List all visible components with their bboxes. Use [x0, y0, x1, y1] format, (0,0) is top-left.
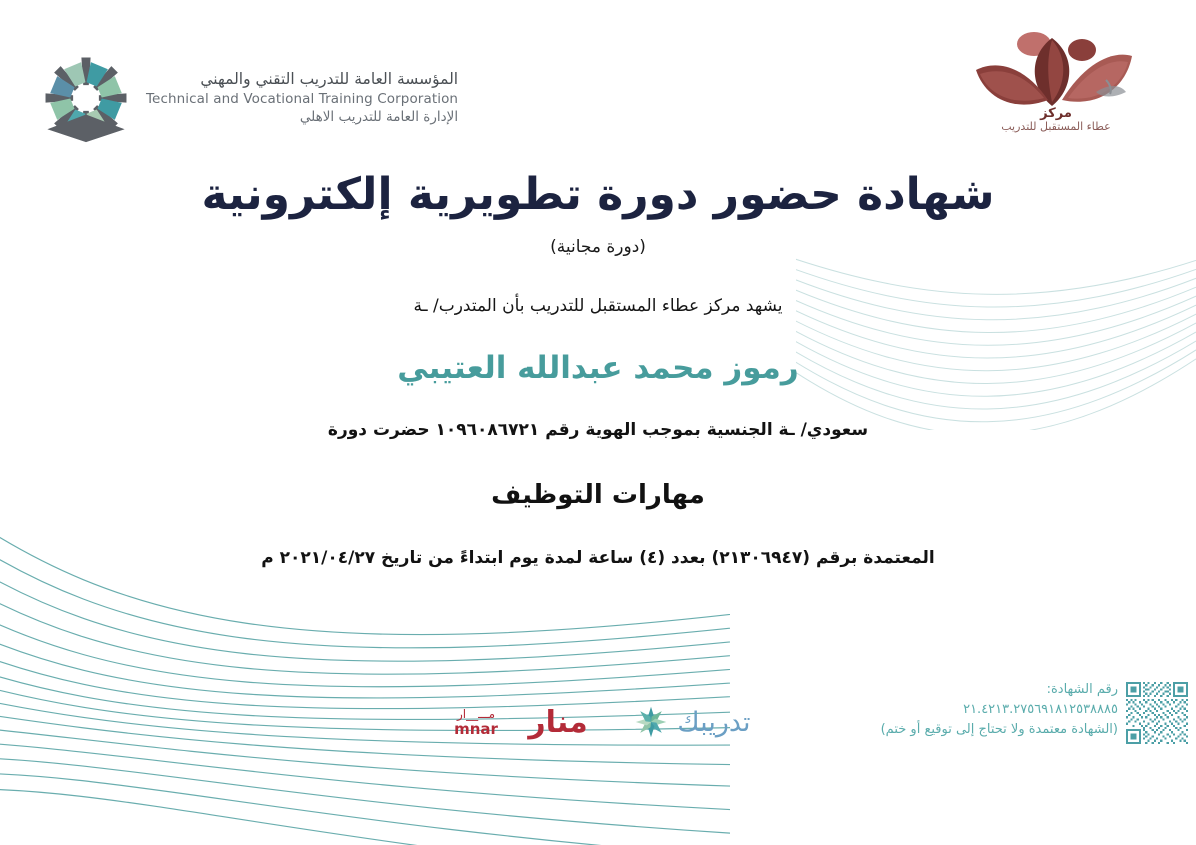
tadreebak-star-icon [634, 705, 668, 739]
certificate-number-label: رقم الشهادة: [881, 680, 1118, 700]
trainee-name: رموز محمد عبدالله العتيبي [0, 350, 1196, 386]
tvtc-star-logo-icon [40, 52, 132, 144]
footer-logos: تدريبك منار [0, 702, 1196, 742]
course-name: مهارات التوظيف [0, 480, 1196, 510]
certificate-footer: رقم الشهادة: ٢١.٤٢١٣.٢٧٥٦٩١٨١٢٥٣٨٨٨٥ (ال… [0, 680, 1196, 790]
svg-text:mnar: mnar [455, 720, 499, 738]
identity-line: سعودي/ ـة الجنسية بموجب الهوية رقم ١٠٩٦٠… [0, 420, 1196, 440]
certificate-header: المؤسسة العامة للتدريب التقني والمهني Te… [0, 0, 1196, 165]
ataa-logo-caption: عطاء المستقبل للتدريب [956, 120, 1156, 133]
svg-text:منار: منار [527, 705, 588, 740]
tvtc-department-arabic: الإدارة العامة للتدريب الاهلي [146, 108, 458, 126]
tvtc-logo-text: المؤسسة العامة للتدريب التقني والمهني Te… [146, 69, 458, 126]
tadreebak-logo: تدريبك [634, 705, 750, 739]
certificate-title: شهادة حضور دورة تطويرية إلكترونية [0, 170, 1196, 221]
tvtc-logo-block: المؤسسة العامة للتدريب التقني والمهني Te… [40, 52, 458, 144]
svg-text:مركز: مركز [1039, 106, 1072, 121]
attestation-line: يشهد مركز عطاء المستقبل للتدريب بأن المت… [0, 293, 1196, 320]
mnar-logo-arabic-icon: منار [516, 702, 600, 742]
mnar-logo: منار مـــ__ار mnar [445, 702, 600, 742]
ataa-logo-block: مركز عطاء المستقبل للتدريب [956, 22, 1156, 144]
certificate-page: المؤسسة العامة للتدريب التقني والمهني Te… [0, 0, 1196, 845]
tvtc-name-english: Technical and Vocational Training Corpor… [146, 90, 458, 108]
mnar-logo-wordmark-icon: مـــ__ار mnar [445, 704, 507, 740]
approval-line: المعتمدة برقم (٢١٣٠٦٩٤٧) بعدد (٤) ساعة ل… [0, 548, 1196, 568]
tadreebak-logo-text: تدريبك [677, 707, 750, 738]
tvtc-name-arabic: المؤسسة العامة للتدريب التقني والمهني [146, 69, 458, 90]
certificate-subtitle: (دورة مجانية) [0, 237, 1196, 257]
certificate-body: شهادة حضور دورة تطويرية إلكترونية (دورة … [0, 170, 1196, 568]
ataa-almustaqbal-logo-icon: مركز [956, 22, 1156, 122]
